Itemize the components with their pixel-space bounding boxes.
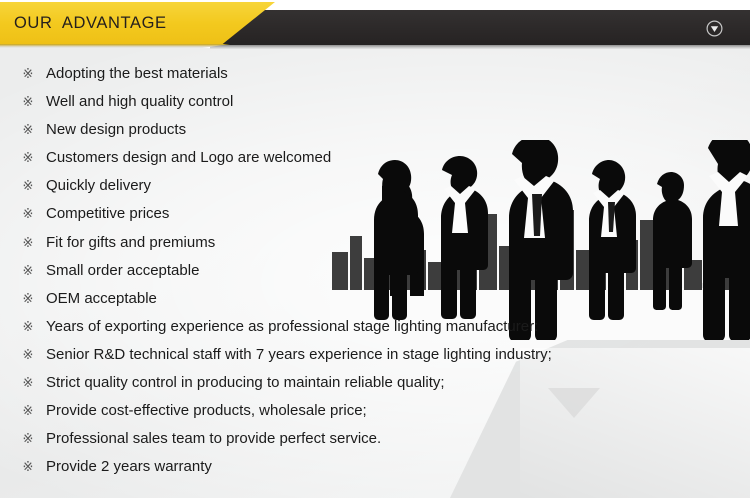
bullet-mark-icon: ※	[20, 285, 36, 313]
bullet-mark-icon: ※	[20, 88, 36, 116]
list-item: ※Competitive prices	[0, 200, 750, 228]
list-item-label: Fit for gifts and premiums	[46, 234, 215, 251]
bullet-mark-icon: ※	[20, 341, 36, 369]
bullet-mark-icon: ※	[20, 313, 36, 341]
bullet-mark-icon: ※	[20, 144, 36, 172]
list-item: ※Years of exporting experience as profes…	[0, 313, 750, 341]
page-header: OUR ADVANTAGE	[0, 0, 750, 50]
list-item-label: Well and high quality control	[46, 93, 233, 110]
list-item: ※Strict quality control in producing to …	[0, 369, 750, 397]
list-item: ※Fit for gifts and premiums	[0, 229, 750, 257]
list-item-label: Small order acceptable	[46, 262, 199, 279]
list-item-label: OEM acceptable	[46, 290, 157, 307]
list-item: ※Quickly delivery	[0, 172, 750, 200]
header-dark-bar-shadow	[210, 45, 750, 49]
list-item-label: Professional sales team to provide perfe…	[46, 430, 381, 447]
bullet-mark-icon: ※	[20, 172, 36, 200]
list-item: ※Senior R&D technical staff with 7 years…	[0, 341, 750, 369]
advantage-list: ※Adopting the best materials ※Well and h…	[0, 60, 750, 481]
bullet-mark-icon: ※	[20, 116, 36, 144]
list-item-label: Customers design and Logo are welcomed	[46, 149, 331, 166]
list-item-label: Provide 2 years warranty	[46, 458, 212, 475]
list-item-label: Adopting the best materials	[46, 65, 228, 82]
list-item: ※Adopting the best materials	[0, 60, 750, 88]
advantage-banner-page: OUR ADVANTAGE ※Adopting the best materia…	[0, 0, 750, 498]
list-item: ※Professional sales team to provide perf…	[0, 425, 750, 453]
bullet-mark-icon: ※	[20, 425, 36, 453]
list-item: ※New design products	[0, 116, 750, 144]
bullet-mark-icon: ※	[20, 200, 36, 228]
list-item: ※OEM acceptable	[0, 285, 750, 313]
bullet-mark-icon: ※	[20, 453, 36, 481]
header-yellow-banner-shadow	[0, 44, 230, 48]
bullet-mark-icon: ※	[20, 397, 36, 425]
bullet-mark-icon: ※	[20, 369, 36, 397]
list-item: ※Provide cost-effective products, wholes…	[0, 397, 750, 425]
list-item: ※Provide 2 years warranty	[0, 453, 750, 481]
list-item: ※Well and high quality control	[0, 88, 750, 116]
list-item: ※Customers design and Logo are welcomed	[0, 144, 750, 172]
list-item-label: Quickly delivery	[46, 177, 151, 194]
page-title: OUR ADVANTAGE	[14, 14, 167, 33]
bullet-mark-icon: ※	[20, 229, 36, 257]
list-item-label: Senior R&D technical staff with 7 years …	[46, 346, 552, 363]
list-item-label: Strict quality control in producing to m…	[46, 374, 445, 391]
list-item-label: Provide cost-effective products, wholesa…	[46, 402, 367, 419]
list-item-label: Competitive prices	[46, 205, 169, 222]
bullet-mark-icon: ※	[20, 60, 36, 88]
list-item: ※Small order acceptable	[0, 257, 750, 285]
chevron-down-circle-icon[interactable]	[706, 20, 723, 37]
header-dark-bar	[210, 10, 750, 45]
list-item-label: New design products	[46, 121, 186, 138]
list-item-label: Years of exporting experience as profess…	[46, 318, 538, 335]
bullet-mark-icon: ※	[20, 257, 36, 285]
